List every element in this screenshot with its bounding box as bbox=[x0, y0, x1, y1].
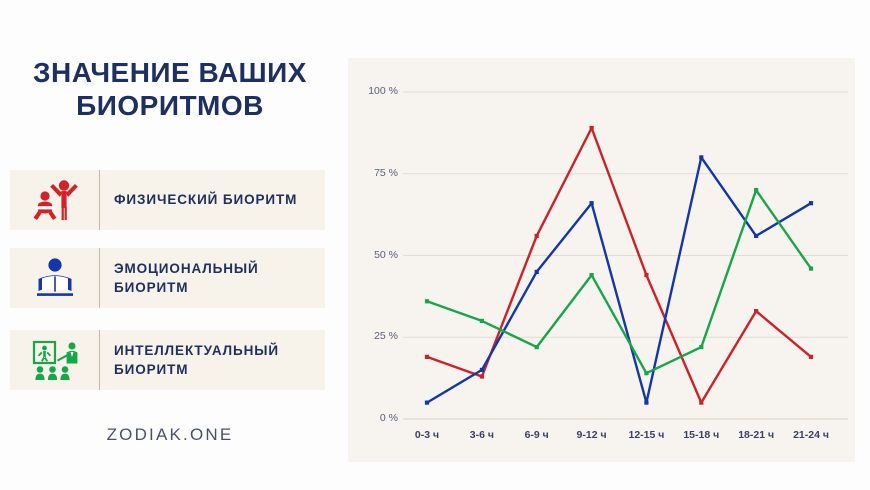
series-lines bbox=[425, 126, 813, 405]
legend-item-label: ИНТЕЛЛЕКТУАЛЬНЫЙ БИОРИТМ bbox=[100, 341, 325, 379]
data-point[interactable] bbox=[809, 201, 813, 205]
data-point[interactable] bbox=[535, 345, 539, 349]
data-point[interactable] bbox=[480, 368, 484, 372]
legend-item-intellectual[interactable]: ИНТЕЛЛЕКТУАЛЬНЫЙ БИОРИТМ bbox=[10, 330, 325, 390]
x-axis-tick-label: 15-18 ч bbox=[673, 429, 729, 441]
data-point[interactable] bbox=[480, 374, 484, 378]
y-axis-tick-label: 25 % bbox=[350, 330, 398, 342]
data-point[interactable] bbox=[644, 273, 648, 277]
left-info-panel: ЗНАЧЕНИЕ ВАШИХ БИОРИТМОВ bbox=[0, 0, 340, 490]
data-point[interactable] bbox=[590, 201, 594, 205]
data-point[interactable] bbox=[535, 270, 539, 274]
gridlines bbox=[403, 92, 848, 419]
data-point[interactable] bbox=[699, 345, 703, 349]
y-axis-tick-label: 50 % bbox=[350, 249, 398, 261]
data-point[interactable] bbox=[480, 319, 484, 323]
series-line-1 bbox=[427, 157, 811, 402]
biorhythm-chart-panel: 0 %25 %50 %75 %100 % 0-3 ч3-6 ч6-9 ч9-12… bbox=[348, 58, 855, 462]
data-point[interactable] bbox=[590, 273, 594, 277]
data-point[interactable] bbox=[809, 355, 813, 359]
data-point[interactable] bbox=[535, 234, 539, 238]
legend-item-emotional[interactable]: ЭМОЦИОНАЛЬНЫЙ БИОРИТМ bbox=[10, 248, 325, 308]
person-reading-book-icon bbox=[10, 248, 100, 308]
x-axis-tick-label: 9-12 ч bbox=[564, 429, 620, 441]
data-point[interactable] bbox=[425, 401, 429, 405]
page-title: ЗНАЧЕНИЕ ВАШИХ БИОРИТМОВ bbox=[10, 56, 330, 122]
brand-watermark: ZODIAK.ONE bbox=[10, 425, 330, 445]
people-exercising-icon bbox=[10, 170, 100, 230]
x-axis-tick-label: 21-24 ч bbox=[783, 429, 839, 441]
data-point[interactable] bbox=[809, 267, 813, 271]
data-point[interactable] bbox=[754, 234, 758, 238]
y-axis-tick-label: 75 % bbox=[350, 167, 398, 179]
biorhythm-line-chart bbox=[348, 58, 855, 462]
slide-root: ЗНАЧЕНИЕ ВАШИХ БИОРИТМОВ bbox=[0, 0, 870, 490]
legend-item-label: ЭМОЦИОНАЛЬНЫЙ БИОРИТМ bbox=[100, 259, 325, 297]
data-point[interactable] bbox=[644, 401, 648, 405]
legend-item-physical[interactable]: ФИЗИЧЕСКИЙ БИОРИТМ bbox=[10, 170, 325, 230]
presentation-teaching-icon bbox=[10, 330, 100, 390]
x-axis-tick-label: 3-6 ч bbox=[454, 429, 510, 441]
x-axis-tick-label: 12-15 ч bbox=[618, 429, 674, 441]
series-line-2 bbox=[427, 190, 811, 373]
data-point[interactable] bbox=[425, 355, 429, 359]
legend-item-label: ФИЗИЧЕСКИЙ БИОРИТМ bbox=[100, 190, 297, 209]
data-point[interactable] bbox=[699, 155, 703, 159]
x-axis-tick-label: 6-9 ч bbox=[509, 429, 565, 441]
series-line-0 bbox=[427, 128, 811, 403]
data-point[interactable] bbox=[754, 309, 758, 313]
x-axis-tick-label: 18-21 ч bbox=[728, 429, 784, 441]
data-point[interactable] bbox=[754, 188, 758, 192]
data-point[interactable] bbox=[699, 401, 703, 405]
y-axis-tick-label: 100 % bbox=[350, 85, 398, 97]
y-axis-tick-label: 0 % bbox=[350, 412, 398, 424]
data-point[interactable] bbox=[425, 299, 429, 303]
data-point[interactable] bbox=[644, 371, 648, 375]
data-point[interactable] bbox=[590, 126, 594, 130]
x-axis-tick-label: 0-3 ч bbox=[399, 429, 455, 441]
